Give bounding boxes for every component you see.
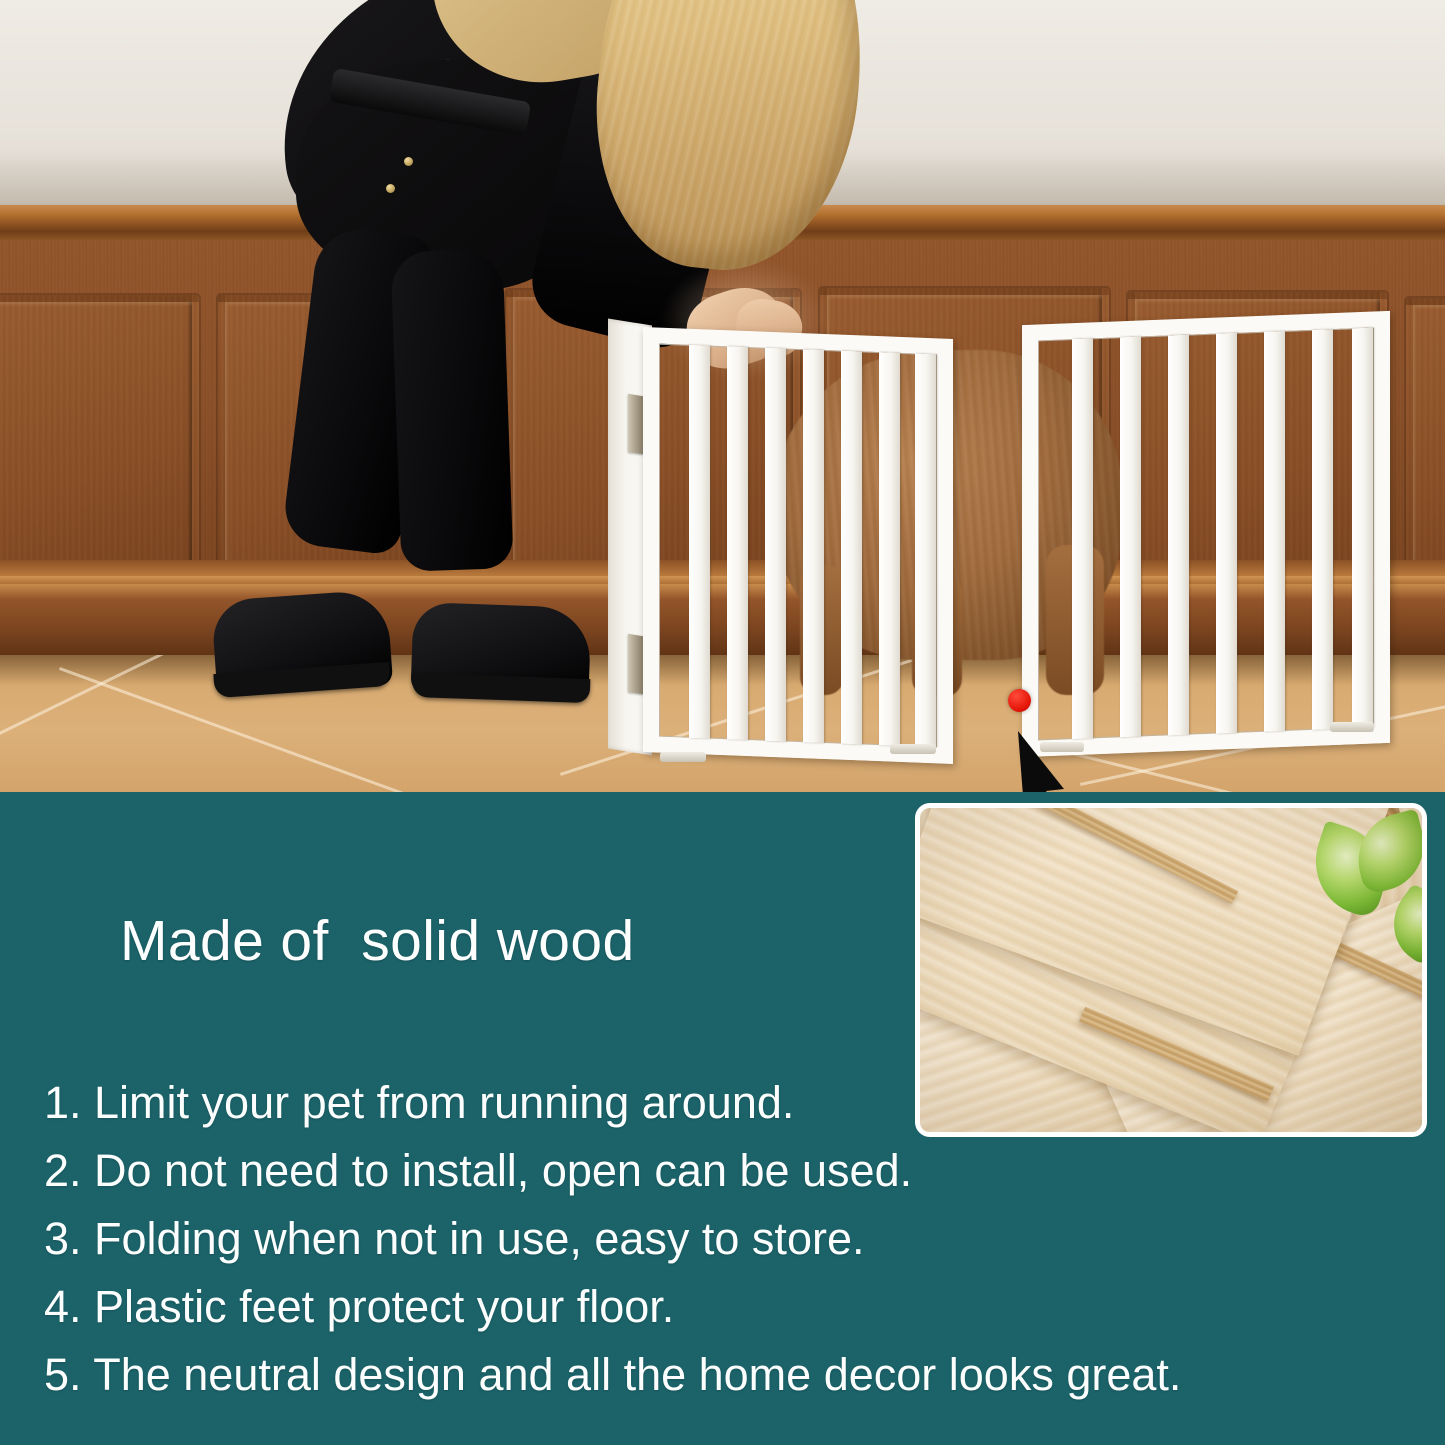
gate-slat: [689, 345, 710, 739]
gate-plastic-foot: [890, 744, 936, 754]
page-title: Made of solid wood: [120, 908, 635, 974]
gate-panel-left: [643, 327, 953, 764]
gate-slat: [727, 346, 748, 740]
jean-stud: [386, 184, 395, 193]
jean-stud: [404, 157, 413, 166]
pet-gate-in-use-photo: [0, 0, 1445, 792]
list-item: 4. Plastic feet protect your floor.: [44, 1284, 1384, 1329]
boot-sole-right: [412, 673, 591, 703]
gate-panel-right: [1022, 311, 1390, 757]
gate-hinge: [628, 634, 643, 694]
gate-slat: [1120, 336, 1141, 737]
gate-hinge: [628, 394, 643, 454]
solid-wood-boards-photo: [915, 803, 1427, 1137]
gate-slat: [841, 351, 862, 745]
gate-slat: [1168, 335, 1189, 736]
gate-plastic-foot: [1330, 722, 1374, 732]
gate-slat: [1264, 331, 1285, 732]
gate-slat: [1216, 333, 1237, 734]
product-infographic: Made of solid wood 1. Limit your pet fro…: [0, 0, 1445, 1445]
gate-plastic-foot: [660, 752, 706, 762]
list-item: 2. Do not need to install, open can be u…: [44, 1148, 1384, 1193]
person-leg-right: [390, 248, 513, 572]
gate-slat: [879, 352, 900, 746]
list-item: 3. Folding when not in use, easy to stor…: [44, 1216, 1384, 1261]
gate-plastic-foot: [1040, 742, 1084, 752]
gate-slat: [1312, 329, 1333, 730]
list-item: 5. The neutral design and all the home d…: [44, 1352, 1384, 1397]
gate-slat: [1352, 328, 1373, 729]
wood-vignette: [920, 808, 1422, 1132]
gate-slat: [915, 353, 936, 747]
gate-slat: [803, 349, 824, 743]
red-dot-marker: [1008, 689, 1031, 712]
gate-slat: [765, 348, 786, 742]
gate-slat: [1072, 338, 1093, 739]
